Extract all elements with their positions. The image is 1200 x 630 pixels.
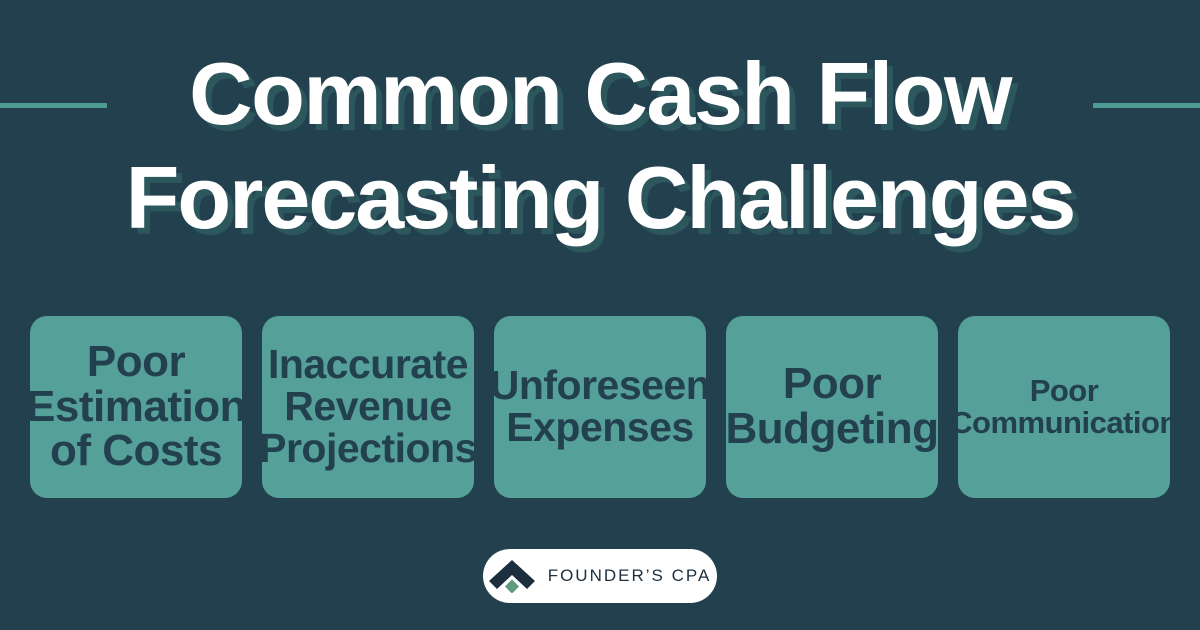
card-label: Unforeseen Expenses xyxy=(490,365,711,449)
card-label: Poor Estimation of Costs xyxy=(26,340,246,475)
chevron-up-mark-icon xyxy=(489,560,535,593)
founders-cpa-logo: FOUNDER’S CPA xyxy=(483,549,717,603)
card-label: Inaccurate Revenue Projections xyxy=(259,344,477,469)
challenge-card-poor-budgeting: Poor Budgeting xyxy=(726,316,938,498)
challenge-card-poor-communication: Poor Communication xyxy=(958,316,1170,498)
title-line-2: Forecasting Challenges xyxy=(0,146,1200,250)
challenge-card-inaccurate-revenue-projections: Inaccurate Revenue Projections xyxy=(262,316,474,498)
card-label: Poor Communication xyxy=(950,375,1178,438)
slide-canvas: Common Cash Flow Forecasting Challenges … xyxy=(0,0,1200,630)
challenge-card-poor-estimation-of-costs: Poor Estimation of Costs xyxy=(30,316,242,498)
logo-wordmark: FOUNDER’S CPA xyxy=(548,566,712,586)
page-title: Common Cash Flow Forecasting Challenges xyxy=(0,42,1200,250)
challenge-card-row: Poor Estimation of Costs Inaccurate Reve… xyxy=(30,316,1170,498)
card-label: Poor Budgeting xyxy=(726,362,939,452)
title-line-1: Common Cash Flow xyxy=(0,42,1200,146)
challenge-card-unforeseen-expenses: Unforeseen Expenses xyxy=(494,316,706,498)
